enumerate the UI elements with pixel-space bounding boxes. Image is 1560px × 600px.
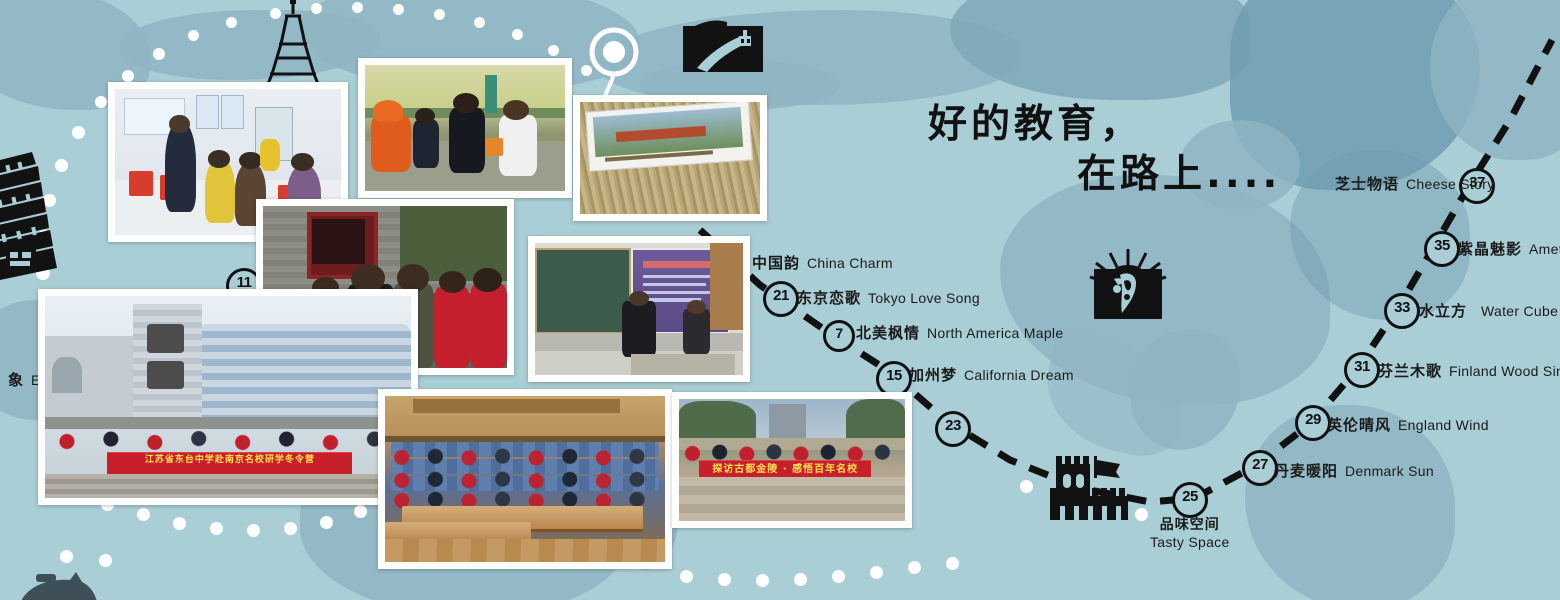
route-label-california-dream: 加州梦California Dream (909, 364, 1074, 385)
route-label-en: North America Maple (927, 325, 1063, 341)
route-label-cn: 中国韵 (752, 255, 800, 272)
route-label-amethyst-charm: 紫晶魅影Amethyst Charm (1458, 238, 1560, 259)
route-marker-35[interactable]: 35 (1424, 231, 1460, 267)
route-marker-7[interactable]: 7 (823, 320, 855, 352)
photo-auditorium[interactable] (378, 389, 672, 569)
route-label-cn: 北美枫情 (856, 325, 920, 342)
route-label-en: England Wind (1398, 417, 1489, 433)
route-label-en: China Charm (807, 255, 893, 271)
photo-school-building[interactable]: 江苏省东台中学赴南京名校研学冬令营 (38, 289, 418, 505)
page-title-line-2: 在路上.... (1077, 150, 1281, 200)
route-label-england-wind: 英伦晴风England Wind (1327, 414, 1489, 435)
route-label-en: Cheese Story (1406, 176, 1494, 192)
route-label-en: Amethyst Charm (1529, 241, 1560, 257)
route-marker-33[interactable]: 33 (1384, 293, 1420, 329)
statue-of-liberty-icon (1084, 247, 1172, 322)
route-label-cn: 象 (8, 372, 24, 389)
route-label-north-america-maple: 北美枫情North America Maple (856, 322, 1063, 343)
top-left-glyph-icon (6, 248, 40, 274)
route-marker-31[interactable]: 31 (1344, 352, 1380, 388)
photo-outdoor-activity[interactable] (358, 58, 572, 198)
route-label-cn: 紫晶魅影 (1458, 241, 1522, 258)
page-title-line-1: 好的教育， (928, 100, 1143, 150)
route-label-en: Water Cube (1481, 303, 1558, 319)
route-label-china-charm: 中国韵China Charm (752, 252, 893, 273)
route-label-en: Tokyo Love Song (868, 290, 980, 306)
route-label-cn: 丹麦暖阳 (1274, 463, 1338, 480)
route-label-cn: 芬兰木歌 (1378, 363, 1442, 380)
route-marker-25[interactable]: 25 (1172, 482, 1208, 518)
route-label-cn: 东京恋歌 (797, 290, 861, 307)
route-label-cn: 水立方 (1419, 303, 1467, 320)
route-label-finland-wood-singing: 芬兰木歌Finland Wood Singing (1378, 360, 1560, 381)
route-label-cn: 芝士物语 (1335, 176, 1399, 193)
castle-icon (1050, 448, 1128, 520)
route-label-tasty-space: 品味空间 Tasty Space (1150, 516, 1230, 551)
route-marker-23[interactable]: 23 (935, 411, 971, 447)
route-label-cn: 加州梦 (909, 367, 957, 384)
bottom-left-landmark-icon (10, 566, 100, 600)
route-label-cheese-story: 芝士物语Cheese Story (1335, 173, 1494, 194)
route-label-en: Denmark Sun (1345, 463, 1434, 479)
photo-tablet-on-grass[interactable] (573, 95, 767, 221)
route-marker-29[interactable]: 29 (1295, 405, 1331, 441)
group-photo-banner-monument: 探访古都金陵 · 感悟百年名校 (699, 460, 871, 478)
great-wall-icon (683, 20, 763, 72)
route-label-water-cube: 水立方Water Cube (1419, 300, 1558, 321)
route-marker-21[interactable]: 21 (763, 281, 799, 317)
route-marker-27[interactable]: 27 (1242, 450, 1278, 486)
route-label-cn: 品味空间 (1150, 516, 1230, 534)
route-label-tokyo-love-song: 东京恋歌Tokyo Love Song (797, 287, 980, 308)
route-label-en: Tasty Space (1150, 534, 1230, 552)
route-label-en: Finland Wood Singing (1449, 363, 1560, 379)
route-label-cn: 英伦晴风 (1327, 417, 1391, 434)
photo-group-monument[interactable]: 探访古都金陵 · 感悟百年名校 (672, 392, 912, 528)
route-label-en: California Dream (964, 367, 1074, 383)
route-label-denmark-sun: 丹麦暖阳Denmark Sun (1274, 460, 1434, 481)
poster-canvas: 11 21 7 15 23 25 27 29 31 33 35 37 中国韵Ch… (0, 0, 1560, 600)
photo-lecture-hall[interactable] (528, 236, 750, 382)
